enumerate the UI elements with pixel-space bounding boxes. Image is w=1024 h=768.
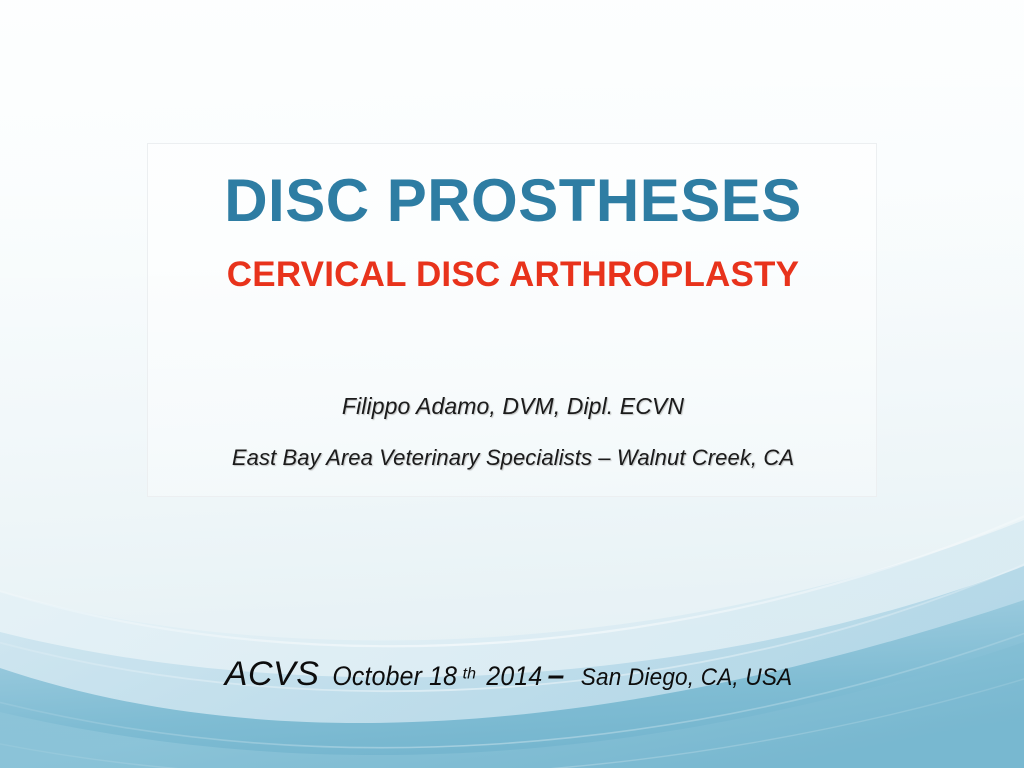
footer-location: San Diego, CA, USA	[581, 664, 793, 692]
footer-organization: ACVS	[225, 655, 320, 693]
footer-date-prefix	[320, 661, 327, 692]
presentation-slide: DISC PROSTHESES CERVICAL DISC ARTHROPLAS…	[0, 0, 1024, 768]
slide-subtitle: CERVICAL DISC ARTHROPLASTY	[148, 256, 878, 295]
title-content-box: DISC PROSTHESES CERVICAL DISC ARTHROPLAS…	[147, 143, 877, 497]
footer-year: 2014	[486, 661, 542, 692]
author-name: Filippo Adamo, DVM, Dipl. ECVN	[148, 393, 878, 420]
footer-date: October 18	[333, 661, 458, 692]
footer-space-1	[476, 661, 483, 692]
footer-space-2	[567, 664, 573, 692]
author-affiliation: East Bay Area Veterinary Specialists – W…	[143, 445, 883, 471]
footer-date-ordinal: th	[463, 666, 476, 683]
slide-title: DISC PROSTHESES	[148, 169, 878, 232]
conference-footer: ACVS October 18th 2014– San Diego, CA, U…	[0, 655, 1024, 694]
footer-separator: –	[545, 659, 568, 692]
